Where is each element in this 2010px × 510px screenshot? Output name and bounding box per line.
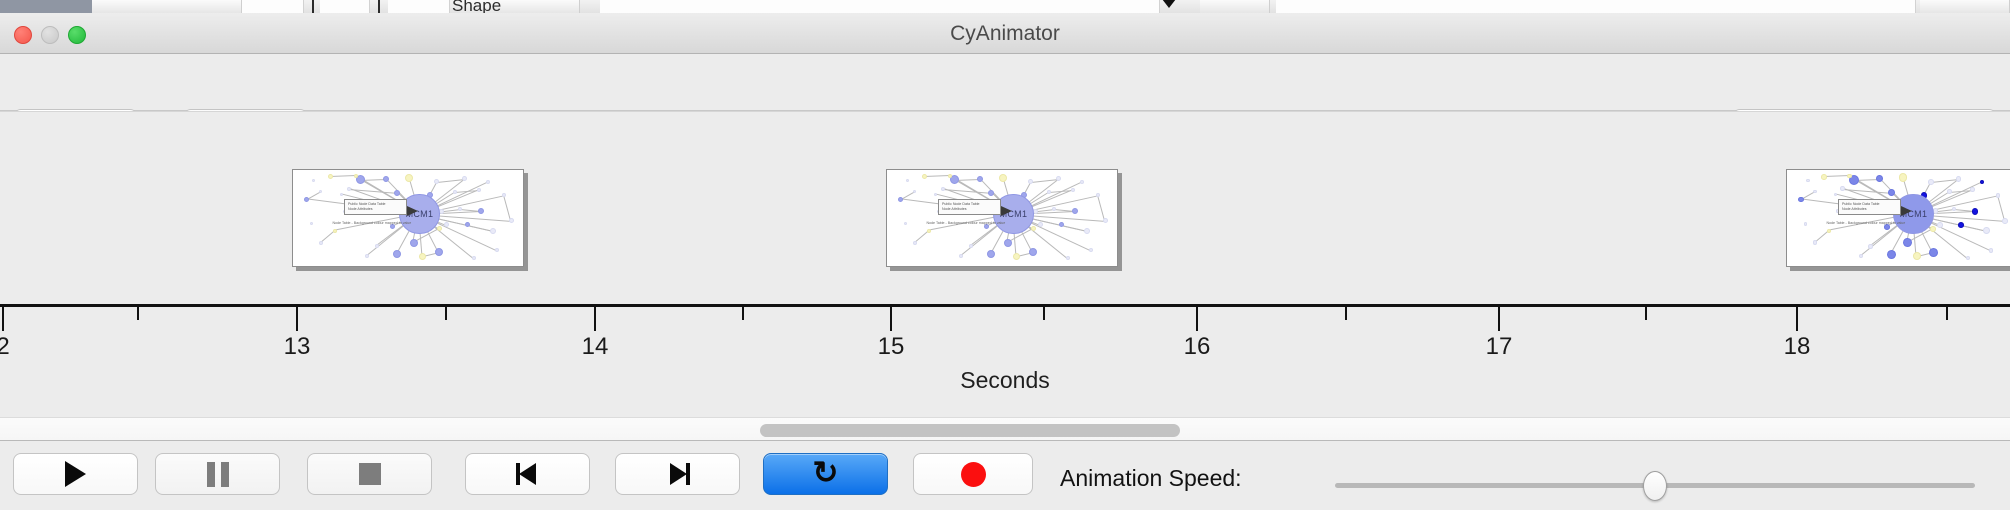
play-button[interactable]: [13, 453, 138, 495]
play-icon: [65, 461, 86, 487]
graph-node: [1028, 179, 1033, 184]
graph-node: [1903, 238, 1912, 247]
graph-node: [437, 226, 442, 231]
graph-node: [1868, 244, 1872, 248]
graph-node: [304, 197, 309, 202]
tick-major: [1498, 307, 1500, 331]
tooltip-pointer: [1001, 206, 1012, 216]
tick-major: [890, 307, 892, 331]
graph-node: [1804, 222, 1807, 225]
cyanimator-window: Shape CyAnimator +: [0, 0, 2010, 510]
tooltip-pointer: [407, 206, 418, 216]
graph-node: [1821, 174, 1827, 180]
minimize-button[interactable]: [41, 26, 59, 44]
tick-minor: [137, 307, 139, 320]
graph-node: [1080, 180, 1084, 184]
graph-node: [913, 190, 916, 193]
tick-label: 2: [0, 333, 10, 361]
tooltip-line: Node Attributes: [1842, 207, 1897, 212]
tooltip-pointer: [1901, 206, 1912, 216]
thumbnail-tooltip: Public Node Data TableNode Attributes: [938, 199, 1001, 215]
graph-node: [1983, 227, 1990, 234]
graph-node: [948, 174, 952, 178]
graph-node: [898, 197, 903, 202]
graph-node: [906, 179, 909, 182]
frame-toolbar: + Clear All Frames: [0, 54, 2010, 111]
graph-node: [453, 190, 457, 194]
graph-edge: [924, 175, 950, 177]
graph-node: [1029, 248, 1037, 256]
graph-node: [1071, 188, 1075, 192]
graph-edge: [1824, 175, 1850, 177]
stop-button[interactable]: [307, 453, 432, 495]
graph-node: [490, 228, 496, 234]
background-window-strip: Shape: [0, 0, 2010, 13]
tick-major: [594, 307, 596, 331]
graph-node: [439, 209, 444, 214]
thumbnail-caption: Node Table - Background colour mapped to…: [332, 221, 411, 225]
maximize-button[interactable]: [68, 26, 86, 44]
graph-node: [419, 253, 426, 260]
skip-forward-icon: [666, 462, 690, 486]
graph-node: [354, 174, 358, 178]
graph-node: [1047, 190, 1051, 194]
graph-node: [934, 193, 937, 196]
graph-edge: [467, 225, 493, 232]
record-icon: [961, 462, 986, 487]
graph-node: [987, 250, 995, 258]
graph-node: [502, 193, 506, 197]
close-button[interactable]: [14, 26, 32, 44]
graph-node: [1996, 193, 2000, 197]
timeline-panel[interactable]: MCM1Public Node Data TableNode Attribute…: [0, 111, 2010, 417]
tick-minor: [1043, 307, 1045, 320]
graph-node: [462, 176, 467, 181]
graph-node: [1004, 239, 1012, 247]
graph-node: [1013, 253, 1020, 260]
graph-node: [922, 174, 927, 179]
graph-node: [1989, 248, 1993, 252]
graph-node: [1084, 228, 1090, 234]
graph-node: [1827, 229, 1831, 233]
graph-edge: [330, 175, 356, 177]
graph-node: [2002, 218, 2008, 224]
animation-speed-slider[interactable]: [1335, 474, 1975, 496]
tick-label: 17: [1486, 333, 1513, 361]
graph-node: [1929, 248, 1938, 257]
graph-node: [1096, 193, 1100, 197]
graph-node: [1980, 180, 1984, 184]
tick-major: [296, 307, 298, 331]
background-window-text: Shape: [452, 0, 501, 13]
graph-node: [1813, 240, 1817, 244]
graph-node: [1813, 190, 1816, 193]
graph-node: [927, 229, 931, 233]
graph-node: [1947, 189, 1951, 193]
tick-label: 15: [878, 333, 905, 361]
graph-node: [472, 256, 476, 260]
graph-node: [984, 224, 989, 229]
thumbnail-caption: Node Table - Background colour mapped to…: [926, 221, 1005, 225]
graph-node: [1066, 256, 1070, 260]
skip-to-end-button[interactable]: [615, 453, 740, 495]
graph-node: [383, 176, 389, 182]
slider-thumb[interactable]: [1643, 471, 1667, 501]
graph-node: [1958, 222, 1964, 228]
graph-edge: [503, 195, 511, 221]
graph-node: [1899, 173, 1908, 182]
graph-node: [319, 241, 323, 245]
graph-node: [310, 222, 313, 225]
graph-node: [904, 222, 907, 225]
tick-label: 13: [284, 333, 311, 361]
graph-node: [319, 190, 322, 193]
timeline-axis: [0, 304, 2010, 307]
tooltip-line: Node Attributes: [348, 207, 403, 212]
tick-label: 18: [1784, 333, 1811, 361]
tick-minor: [1645, 307, 1647, 320]
frame-thumbnail[interactable]: MCM1Public Node Data TableNode Attribute…: [292, 169, 524, 267]
graph-node: [1937, 222, 1943, 228]
pause-icon: [207, 462, 229, 487]
graph-node: [1972, 208, 1979, 215]
tick-minor: [445, 307, 447, 320]
graph-node: [1033, 209, 1038, 214]
graph-node: [1072, 208, 1078, 214]
graph-node: [1966, 256, 1970, 260]
graph-edge: [1061, 225, 1087, 232]
skip-to-start-button[interactable]: [465, 453, 590, 495]
graph-node: [999, 174, 1007, 182]
loop-icon: ↻: [813, 457, 839, 488]
graph-node: [1928, 179, 1934, 185]
tick-major: [1196, 307, 1198, 331]
graph-edge: [1097, 195, 1105, 221]
graph-node: [1052, 207, 1056, 211]
graph-node: [941, 187, 945, 191]
graph-node: [465, 222, 470, 227]
graph-node: [477, 188, 481, 192]
graph-node: [340, 193, 343, 196]
tick-major: [1796, 307, 1798, 331]
graph-node: [1847, 174, 1851, 178]
graph-node: [988, 190, 994, 196]
title-bar: CyAnimator: [0, 13, 2010, 54]
graph-node: [1798, 197, 1804, 203]
timeline-scrollbar[interactable]: [0, 417, 2010, 441]
graph-node: [347, 187, 351, 191]
thumbnail-tooltip: Public Node Data TableNode Attributes: [1838, 199, 1901, 215]
axis-title: Seconds: [0, 367, 2010, 394]
graph-node: [405, 174, 413, 182]
graph-node: [435, 248, 443, 256]
thumbnail-tooltip: Public Node Data TableNode Attributes: [344, 199, 407, 215]
graph-node: [410, 239, 418, 247]
graph-node: [495, 248, 499, 252]
graph-node: [1952, 207, 1956, 211]
tick-label: 16: [1184, 333, 1211, 361]
graph-node: [1913, 252, 1921, 260]
thumbnail-caption: Node Table - Background colour mapped to…: [1826, 221, 1905, 225]
graph-node: [393, 250, 401, 258]
graph-node: [509, 218, 514, 223]
graph-node: [977, 176, 983, 182]
stop-icon: [359, 463, 381, 485]
loop-button[interactable]: ↻: [763, 453, 888, 495]
graph-node: [1859, 254, 1863, 258]
animation-speed-label: Animation Speed:: [1060, 465, 1242, 492]
record-button[interactable]: [913, 453, 1033, 495]
scrollbar-thumb[interactable]: [760, 424, 1180, 437]
graph-node: [486, 180, 490, 184]
graph-node: [1059, 222, 1064, 227]
playback-bar: ↻ Animation Speed:: [0, 442, 2010, 510]
tick-minor: [742, 307, 744, 320]
frame-thumbnail[interactable]: MCM1Public Node Data TableNode Attribute…: [1786, 169, 2010, 267]
graph-node: [1930, 226, 1936, 232]
graph-node: [1031, 226, 1036, 231]
graph-node: [1970, 187, 1974, 191]
graph-node: [312, 179, 315, 182]
graph-node: [1103, 218, 1108, 223]
graph-node: [394, 190, 400, 196]
tick-minor: [1946, 307, 1948, 320]
graph-node: [1834, 193, 1837, 196]
tick-minor: [1345, 307, 1347, 320]
graph-node: [390, 224, 395, 229]
graph-node: [365, 254, 369, 258]
graph-node: [1806, 179, 1809, 182]
tooltip-line: Node Attributes: [942, 207, 997, 212]
pause-button[interactable]: [155, 453, 280, 495]
graph-node: [434, 179, 439, 184]
graph-node: [478, 208, 484, 214]
graph-node: [913, 241, 917, 245]
tick-label: 14: [582, 333, 609, 361]
graph-node: [458, 207, 462, 211]
tick-major: [2, 307, 4, 331]
graph-node: [1887, 250, 1896, 259]
traffic-light-group: [14, 26, 86, 44]
skip-back-icon: [516, 462, 540, 486]
graph-node: [1056, 176, 1061, 181]
graph-node: [328, 174, 333, 179]
graph-node: [1089, 248, 1093, 252]
graph-node: [959, 254, 963, 258]
window-title: CyAnimator: [0, 13, 2010, 54]
graph-node: [1956, 176, 1962, 182]
graph-node: [333, 229, 337, 233]
frame-thumbnail[interactable]: MCM1Public Node Data TableNode Attribute…: [886, 169, 1118, 267]
graph-node: [1840, 186, 1844, 190]
graph-node: [1888, 189, 1895, 196]
